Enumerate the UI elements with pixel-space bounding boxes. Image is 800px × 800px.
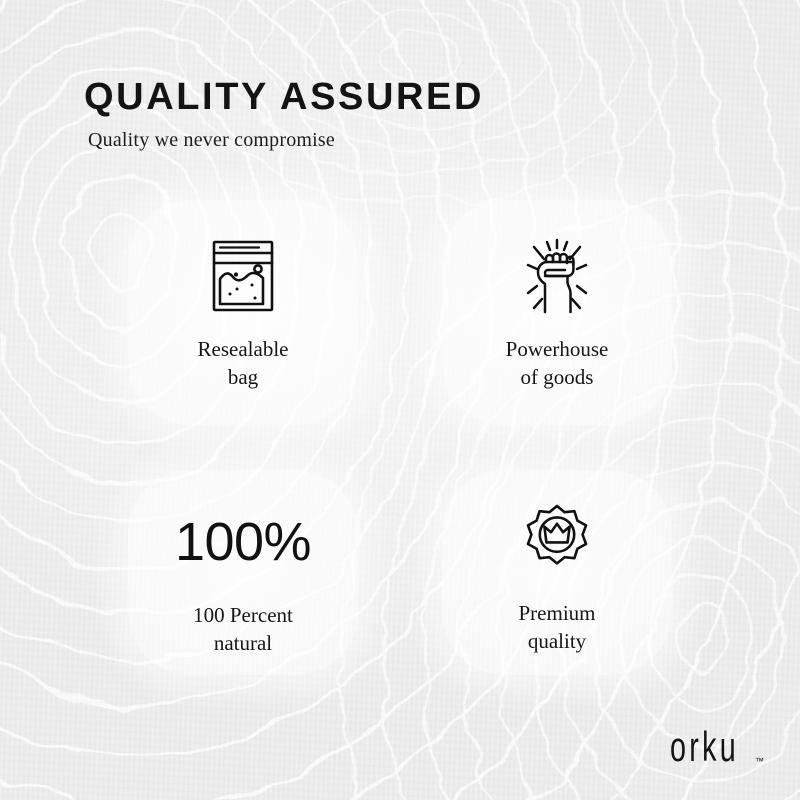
feature-label-line1: Premium [519,601,596,625]
page-title: QUALITY ASSURED [84,78,484,116]
feature-label-line2: of goods [521,365,594,389]
feature-card-label: Resealable bag [198,336,289,391]
feature-card-powerhouse: Powerhouse of goods [442,200,672,425]
trademark-symbol: ™ [755,757,764,766]
crown-badge-icon [519,500,595,580]
feature-label-line1: 100 Percent [193,603,293,627]
brand-logo: orku ™ [670,733,764,768]
page-subtitle: Quality we never compromise [88,129,484,152]
feature-label-line1: Powerhouse [506,337,609,361]
header: QUALITY ASSURED Quality we never comprom… [84,78,484,152]
percent-100-text: 100% [175,502,311,582]
feature-card-label: 100 Percent natural [193,602,293,657]
brand-name: orku [670,727,739,768]
raised-fist-icon [520,236,594,316]
feature-label-line2: bag [228,365,258,389]
feature-card-label: Powerhouse of goods [506,336,609,391]
feature-card-resealable-bag: Resealable bag [128,200,358,425]
poster-canvas: QUALITY ASSURED Quality we never comprom… [0,0,800,800]
feature-label-line2: natural [214,631,272,655]
feature-card-grid: Resealable bag [128,200,672,675]
feature-card-label: Premium quality [519,600,596,655]
feature-card-100-percent-natural: 100% 100 Percent natural [128,470,358,675]
resealable-bag-icon [211,236,275,316]
feature-card-premium-quality: Premium quality [442,470,672,675]
feature-label-line1: Resealable [198,337,289,361]
feature-label-line2: quality [528,629,586,653]
